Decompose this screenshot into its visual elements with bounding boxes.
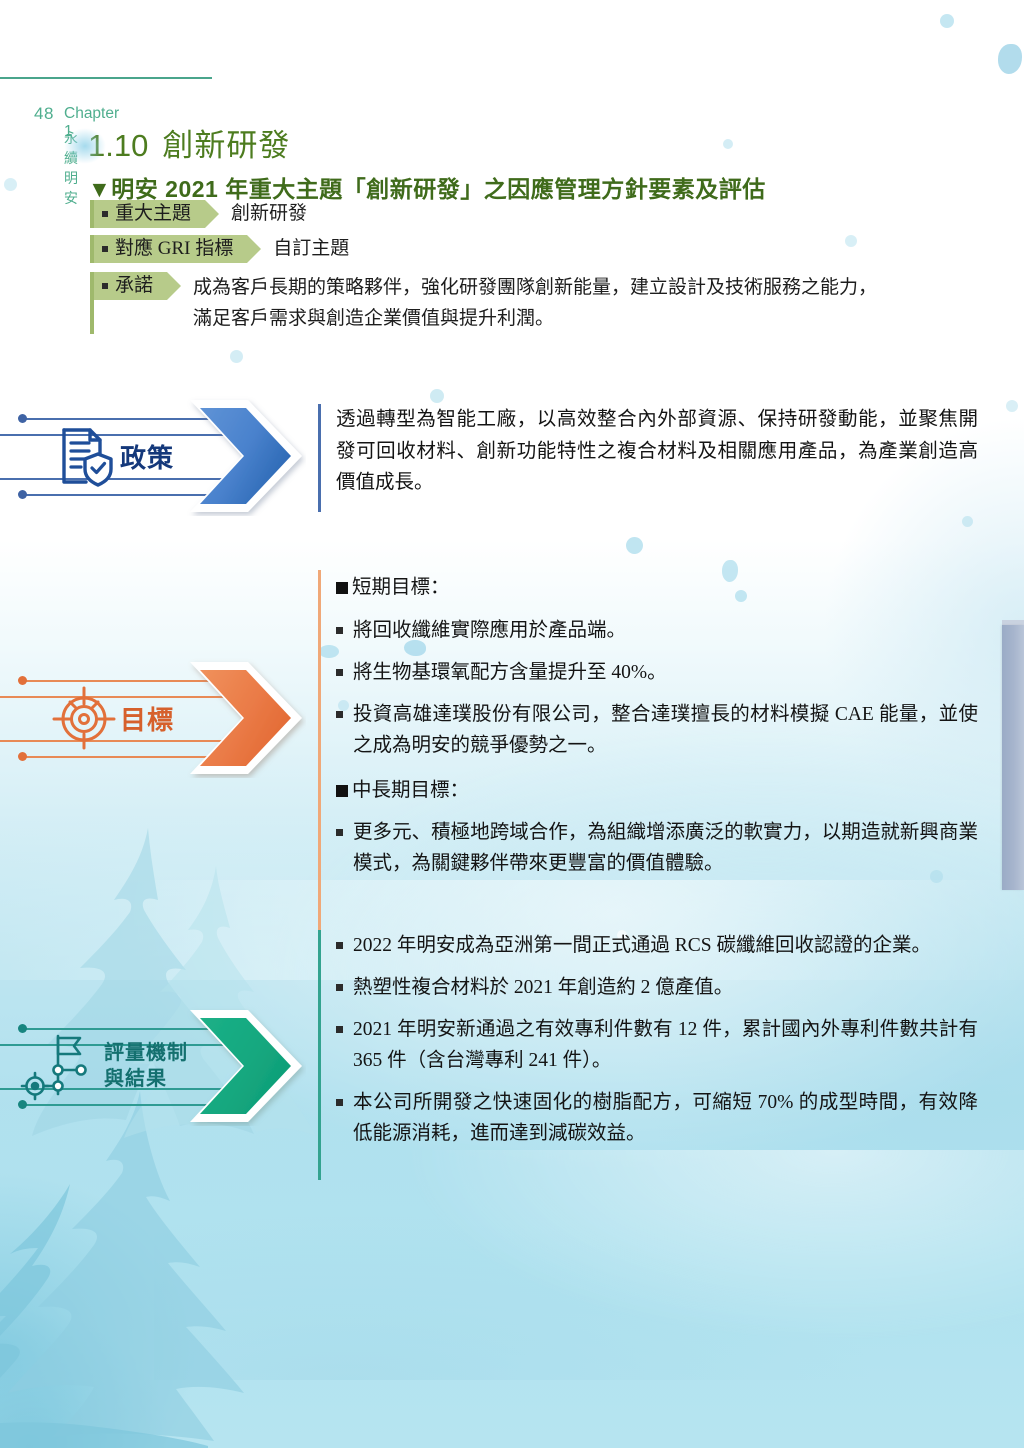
policy-label-text: 政策: [120, 438, 174, 475]
meta-row-value: 自訂主題: [273, 235, 349, 263]
result-bullet-text: 2021 年明安新通過之有效專利件數有 12 件，累計國內外專利件數共計有 36…: [353, 1014, 978, 1076]
policy-label-unit: 政策: [0, 398, 300, 514]
flag-milestone-target-icon: [18, 1030, 98, 1102]
result-label-line1: 評量機制: [104, 1040, 188, 1066]
rail-node: [18, 414, 27, 423]
rail-node: [18, 676, 27, 685]
square-bullet-icon: [102, 283, 108, 289]
rail-node: [18, 490, 27, 499]
meta-row-tag: 承諾: [94, 272, 167, 300]
square-bullet-icon: [336, 627, 343, 634]
goal-label-text: 目標: [120, 700, 174, 737]
policy-paragraph: 透過轉型為智能工廠，以高效整合內外部資源、保持研發動能，並聚焦開發可回收材料、創…: [336, 404, 978, 499]
square-bullet-icon: [336, 1099, 343, 1106]
section-heading: 1.10創新研發: [88, 120, 290, 165]
result-label-unit: 評量機制 與結果: [0, 1008, 300, 1124]
result-content: 2022 年明安成為亞洲第一間正式通過 RCS 碳纖維回收認證的企業。 熱塑性複…: [318, 930, 978, 1149]
side-edge-tab[interactable]: [1002, 625, 1024, 890]
result-label: 評量機制 與結果: [104, 1008, 188, 1124]
target-crosshair-icon: [52, 686, 116, 750]
meta-row-label: 重大主題: [115, 200, 191, 228]
goal-group-heading: 中長期目標：: [336, 775, 978, 807]
running-head-rule: [0, 77, 212, 79]
result-bullet: 2022 年明安成為亞洲第一間正式通過 RCS 碳纖維回收認證的企業。: [336, 930, 978, 961]
meta-row-tag: 對應 GRI 指標: [94, 235, 247, 263]
section-subtitle: ▼明安 2021 年重大主題「創新研發」之因應管理方針要素及評估: [88, 170, 766, 204]
meta-row-value: 成為客戶長期的策略夥伴，強化研發團隊創新能量，建立設計及技術服務之能力，滿足客戶…: [193, 272, 893, 334]
policy-content-rule: [318, 404, 321, 512]
policy-chevron-arrow: [186, 396, 306, 516]
result-chevron-arrow: [186, 1006, 306, 1126]
result-bullet: 本公司所開發之快速固化的樹脂配方，可縮短 70% 的成型時間，有效降低能源消耗，…: [336, 1087, 978, 1149]
meta-row-commitment: 承諾 成為客戶長期的策略夥伴，強化研發團隊創新能量，建立設計及技術服務之能力，滿…: [90, 272, 893, 334]
square-bullet-icon: [102, 246, 108, 252]
result-bullet-text: 熱塑性複合材料於 2021 年創造約 2 億產值。: [353, 972, 978, 1003]
goal-label: 目標: [120, 660, 174, 776]
goal-content: 短期目標： 將回收纖維實際應用於產品端。 將生物基環氧配方含量提升至 40%。 …: [318, 570, 978, 879]
meta-row-label: 對應 GRI 指標: [115, 235, 233, 263]
goal-bullet-text: 投資高雄達璞股份有限公司，整合達璞擅長的材料模擬 CAE 能量，並使之成為明安的…: [353, 699, 978, 761]
square-bullet-icon: [336, 1026, 343, 1033]
goal-bullet: 將生物基環氧配方含量提升至 40%。: [336, 657, 978, 688]
square-bullet-icon: [336, 984, 343, 991]
square-bullet-icon: [102, 211, 108, 217]
meta-row-value: 創新研發: [231, 200, 307, 228]
goal-bullet: 將回收纖維實際應用於產品端。: [336, 615, 978, 646]
goal-group-heading-text: 短期目標：: [352, 572, 450, 604]
page-title: 創新研發: [162, 128, 290, 163]
filled-square-icon: [336, 582, 348, 594]
goal-bullet: 更多元、積極地跨域合作，為組織增添廣泛的軟實力，以期造就新興商業模式，為關鍵夥伴…: [336, 817, 978, 879]
goal-bullet: 投資高雄達璞股份有限公司，整合達璞擅長的材料模擬 CAE 能量，並使之成為明安的…: [336, 699, 978, 761]
result-bullet: 2021 年明安新通過之有效專利件數有 12 件，累計國內外專利件數共計有 36…: [336, 1014, 978, 1076]
result-bullet-text: 本公司所開發之快速固化的樹脂配方，可縮短 70% 的成型時間，有效降低能源消耗，…: [353, 1087, 978, 1149]
heading-watercolor-blotch: [64, 128, 106, 164]
page-number: 48: [34, 104, 54, 124]
goal-chevron-arrow: [186, 658, 306, 778]
goal-group-heading: 短期目標：: [336, 572, 978, 604]
result-label-line2: 與結果: [104, 1066, 188, 1092]
policy-content: 透過轉型為智能工廠，以高效整合內外部資源、保持研發動能，並聚焦開發可回收材料、創…: [318, 404, 978, 499]
meta-row-gri: 對應 GRI 指標 自訂主題: [90, 235, 349, 263]
rail-node: [18, 752, 27, 761]
result-bullet: 熱塑性複合材料於 2021 年創造約 2 億產值。: [336, 972, 978, 1003]
goal-bullet-text: 將生物基環氧配方含量提升至 40%。: [353, 657, 978, 688]
goal-group-heading-text: 中長期目標：: [352, 775, 469, 807]
document-shield-check-icon: [52, 424, 116, 488]
goal-block: 目標: [0, 660, 1024, 790]
meta-row-tag: 重大主題: [94, 200, 205, 228]
result-block: 評量機制 與結果: [0, 1008, 1024, 1138]
goal-bullet-text: 將回收纖維實際應用於產品端。: [353, 615, 978, 646]
policy-label: 政策: [120, 398, 174, 514]
goal-content-rule: [318, 570, 321, 930]
result-content-rule: [318, 930, 321, 1180]
policy-block: 政策: [0, 398, 1024, 528]
document-page: 48 Chapter 1 永續明安 1.10創新研發 ▼明安 2021 年重大主…: [0, 0, 1024, 1448]
filled-square-icon: [336, 785, 348, 797]
square-bullet-icon: [336, 942, 343, 949]
square-bullet-icon: [336, 711, 343, 718]
square-bullet-icon: [336, 669, 343, 676]
meta-row-label: 承諾: [115, 272, 153, 300]
meta-row-topic: 重大主題 創新研發: [90, 200, 307, 228]
goal-bullet-text: 更多元、積極地跨域合作，為組織增添廣泛的軟實力，以期造就新興商業模式，為關鍵夥伴…: [353, 817, 978, 879]
goal-label-unit: 目標: [0, 660, 300, 776]
result-bullet-text: 2022 年明安成為亞洲第一間正式通過 RCS 碳纖維回收認證的企業。: [353, 930, 978, 961]
square-bullet-icon: [336, 829, 343, 836]
